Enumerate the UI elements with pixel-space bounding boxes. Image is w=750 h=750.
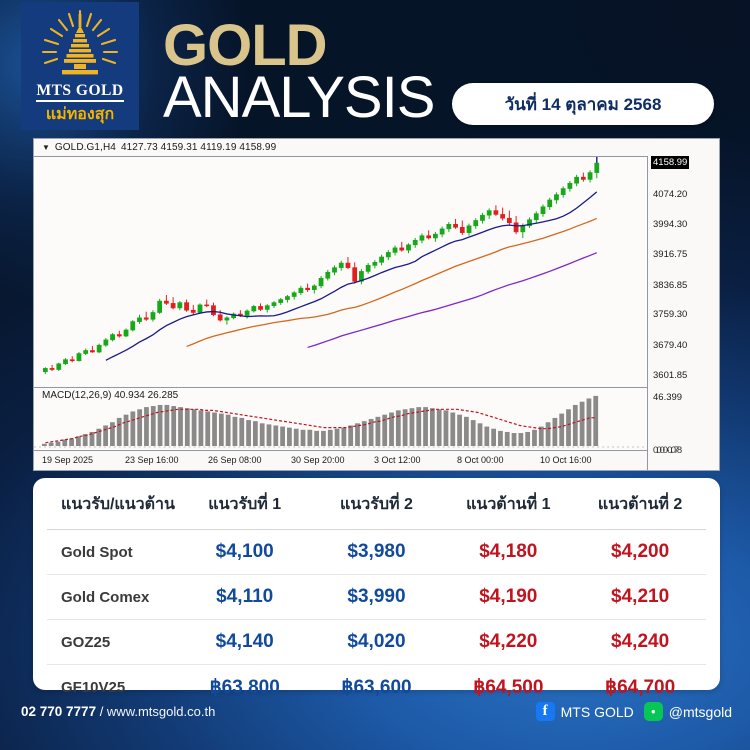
candlestick-plot	[34, 157, 647, 387]
macd-axis-top: 46.399	[653, 392, 682, 403]
col-header-support-2: แนวรับที่ 2	[311, 478, 443, 530]
table-row: Gold Spot $4,100 $3,980 $4,180 $4,200	[47, 530, 706, 575]
phone-number: 02 770 7777	[21, 704, 96, 719]
time-tick: 8 Oct 00:00	[457, 455, 504, 465]
cell-resistance-2: $4,210	[574, 575, 706, 620]
time-tick: 19 Sep 2025	[42, 455, 93, 465]
col-header-instrument: แนวรับ/แนวต้าน	[47, 478, 179, 530]
time-axis: 19 Sep 202523 Sep 16:0026 Sep 08:0030 Se…	[34, 450, 647, 470]
price-axis: 4158.994074.203994.303916.753836.853759.…	[647, 156, 719, 470]
time-tick: 23 Sep 16:00	[125, 455, 179, 465]
row-label: Gold Comex	[47, 575, 179, 620]
poster-background: MTS GOLD แม่ทองสุก GOLD ANALYSIS วันที่ …	[0, 0, 750, 750]
social-links: f MTS GOLD ● @mtsgold	[536, 702, 732, 721]
col-header-support-1: แนวรับที่ 1	[179, 478, 311, 530]
price-tick: 4158.99	[651, 156, 689, 169]
table-header-row: แนวรับ/แนวต้าน แนวรับที่ 1 แนวรับที่ 2 แ…	[47, 478, 706, 530]
cell-support-1: $4,110	[179, 575, 311, 620]
cell-resistance-1: $4,190	[442, 575, 574, 620]
cell-support-1: $4,140	[179, 620, 311, 665]
page-title-analysis: ANALYSIS	[163, 70, 434, 126]
table: แนวรับ/แนวต้าน แนวรับที่ 1 แนวรับที่ 2 แ…	[47, 478, 706, 710]
price-chart: ▼ GOLD.G1,H4 4127.73 4159.31 4119.19 415…	[33, 138, 720, 471]
table-row: Gold Comex $4,110 $3,990 $4,190 $4,210	[47, 575, 706, 620]
cell-resistance-2: $4,240	[574, 620, 706, 665]
facebook-label[interactable]: MTS GOLD	[561, 704, 634, 720]
separator: /	[96, 704, 107, 719]
line-icon[interactable]: ●	[644, 702, 663, 721]
price-tick: 4074.20	[653, 189, 687, 200]
facebook-icon[interactable]: f	[536, 702, 555, 721]
row-label: Gold Spot	[47, 530, 179, 575]
cell-support-2: $3,980	[311, 530, 443, 575]
cell-resistance-2: $4,200	[574, 530, 706, 575]
row-label: GOZ25	[47, 620, 179, 665]
time-tick: 30 Sep 20:00	[291, 455, 345, 465]
price-tick: 3601.85	[653, 370, 687, 381]
footer: 02 770 7777 / www.mtsgold.co.th f MTS GO…	[0, 692, 750, 750]
price-tick: 3759.30	[653, 309, 687, 320]
time-tick: 10 Oct 16:00	[540, 455, 592, 465]
header: MTS GOLD แม่ทองสุก GOLD ANALYSIS วันที่ …	[0, 0, 750, 132]
table-row: GOZ25 $4,140 $4,020 $4,220 $4,240	[47, 620, 706, 665]
price-tick: 3836.85	[653, 280, 687, 291]
price-tick: 3994.30	[653, 219, 687, 230]
col-header-resistance-2: แนวต้านที่ 2	[574, 478, 706, 530]
cell-resistance-1: $4,180	[442, 530, 574, 575]
support-resistance-table: แนวรับ/แนวต้าน แนวรับที่ 1 แนวรับที่ 2 แ…	[33, 478, 720, 690]
macd-label: MACD(12,26,9) 40.934 26.285	[42, 390, 178, 401]
price-tick: 3916.75	[653, 249, 687, 260]
line-label[interactable]: @mtsgold	[669, 704, 732, 720]
chevron-down-icon[interactable]: ▼	[42, 144, 50, 152]
brand-logo: MTS GOLD แม่ทองสุก	[21, 2, 139, 130]
cell-support-1: $4,100	[179, 530, 311, 575]
chart-symbol-label: GOLD.G1,H4	[55, 142, 116, 153]
cell-support-2: $4,020	[311, 620, 443, 665]
time-tick: 3 Oct 12:00	[374, 455, 421, 465]
macd-axis-bottom: 0.000 -0.078	[653, 445, 680, 456]
cell-support-2: $3,990	[311, 575, 443, 620]
cell-resistance-1: $4,220	[442, 620, 574, 665]
gold-pagoda-icon	[32, 8, 128, 82]
price-tick: 3679.40	[653, 340, 687, 351]
date-badge: วันที่ 14 ตุลาคม 2568	[452, 83, 714, 125]
website-link[interactable]: www.mtsgold.co.th	[107, 704, 215, 719]
chart-ohlc-label: 4127.73 4159.31 4119.19 4158.99	[121, 142, 276, 153]
col-header-resistance-1: แนวต้านที่ 1	[442, 478, 574, 530]
contact-info: 02 770 7777 / www.mtsgold.co.th	[21, 704, 215, 719]
chart-header: ▼ GOLD.G1,H4 4127.73 4159.31 4119.19 415…	[34, 139, 719, 156]
time-tick: 26 Sep 08:00	[208, 455, 262, 465]
brand-name-th: แม่ทองสุก	[46, 105, 114, 124]
candlestick-pane	[34, 156, 647, 388]
brand-name-en: MTS GOLD	[36, 83, 123, 102]
